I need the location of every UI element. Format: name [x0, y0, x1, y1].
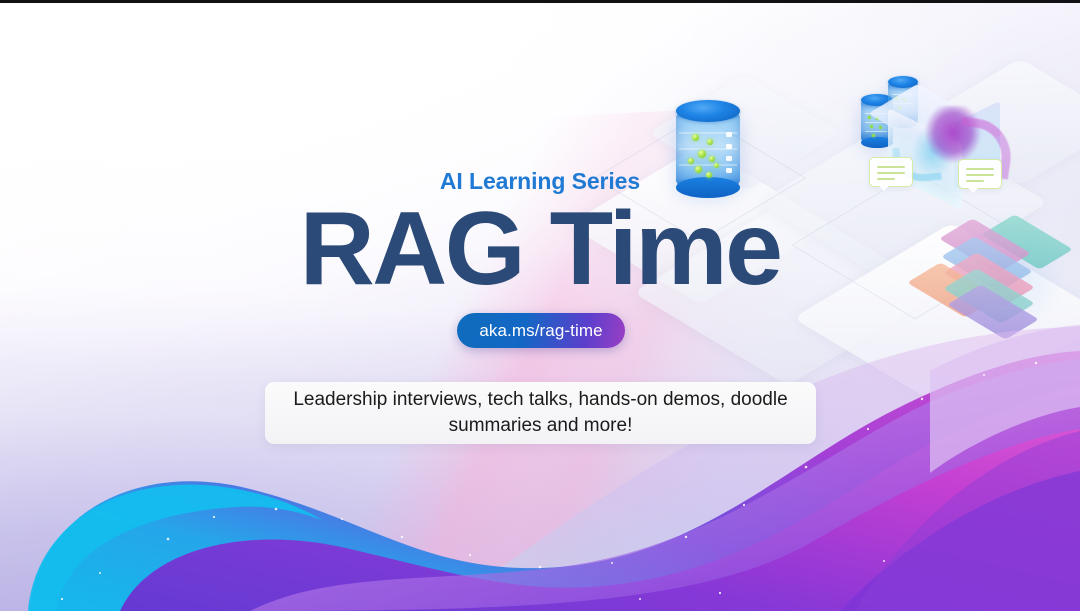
subtitle-text: Leadership interviews, tech talks, hands…	[265, 387, 816, 439]
page-title: RAG Time	[0, 196, 1080, 302]
url-pill-button[interactable]: aka.ms/rag-time	[457, 313, 625, 348]
slide-canvas: AI Learning Series RAG Time aka.ms/rag-t…	[0, 0, 1080, 611]
ribbon-waves-graphic	[0, 311, 1080, 611]
top-border-strip	[0, 0, 1080, 3]
subtitle-card: Leadership interviews, tech talks, hands…	[265, 382, 816, 444]
url-pill-label: aka.ms/rag-time	[479, 321, 602, 341]
